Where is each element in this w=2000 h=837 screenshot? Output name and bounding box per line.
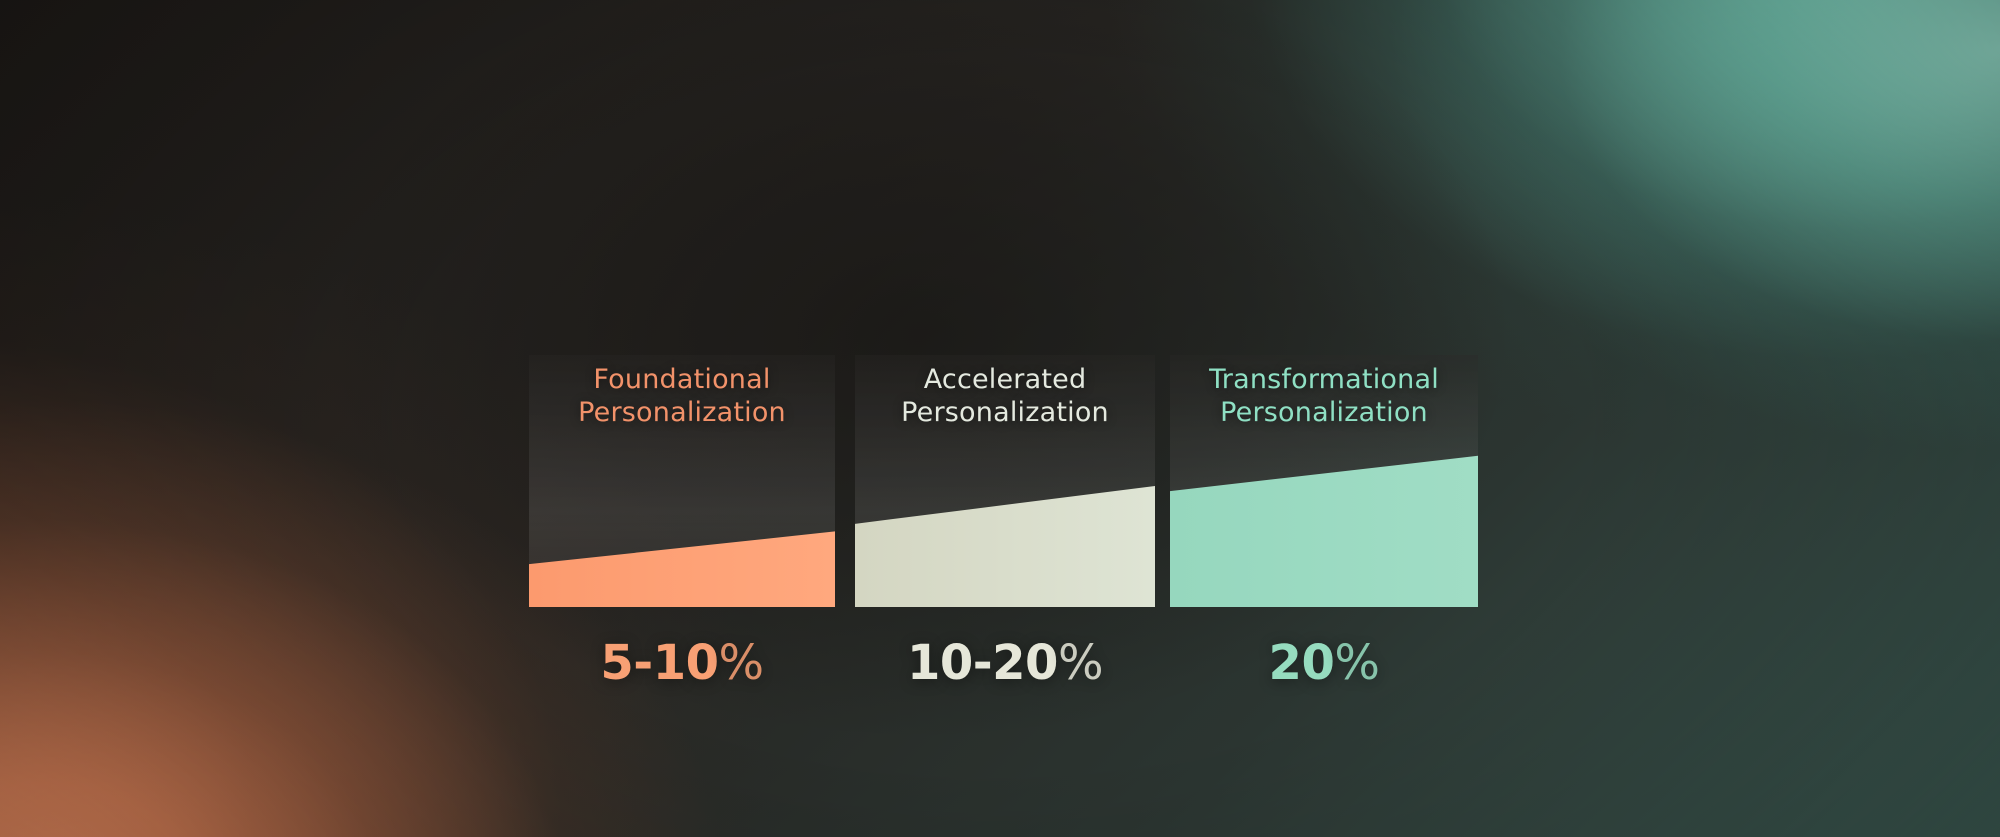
panel-value-number-1: 10-20 (907, 635, 1058, 691)
percent-sign-icon-2: % (1334, 635, 1379, 691)
panel-value-transformational: 20% (1170, 635, 1478, 691)
chart-panel-transformational: Transformational Personalization (1170, 355, 1478, 607)
panel-value-number-2: 20 (1269, 635, 1335, 691)
panel-value-foundational: 5-10% (529, 635, 835, 691)
chart-panel-accelerated: Accelerated Personalization (855, 355, 1155, 607)
panel-value-accelerated: 10-20% (855, 635, 1155, 691)
chart-panel-foundational: Foundational Personalization (529, 355, 835, 607)
percent-sign-icon-0: % (719, 635, 764, 691)
percent-sign-icon-1: % (1058, 635, 1103, 691)
slide-canvas: Foundational Personalization Accelerated… (0, 0, 2000, 837)
panel-label-transformational: Transformational Personalization (1170, 363, 1478, 430)
panel-value-number-0: 5-10 (600, 635, 718, 691)
personalization-maturity-chart: Foundational Personalization Accelerated… (529, 355, 1478, 607)
panel-label-accelerated: Accelerated Personalization (855, 363, 1155, 430)
panel-label-foundational: Foundational Personalization (529, 363, 835, 430)
